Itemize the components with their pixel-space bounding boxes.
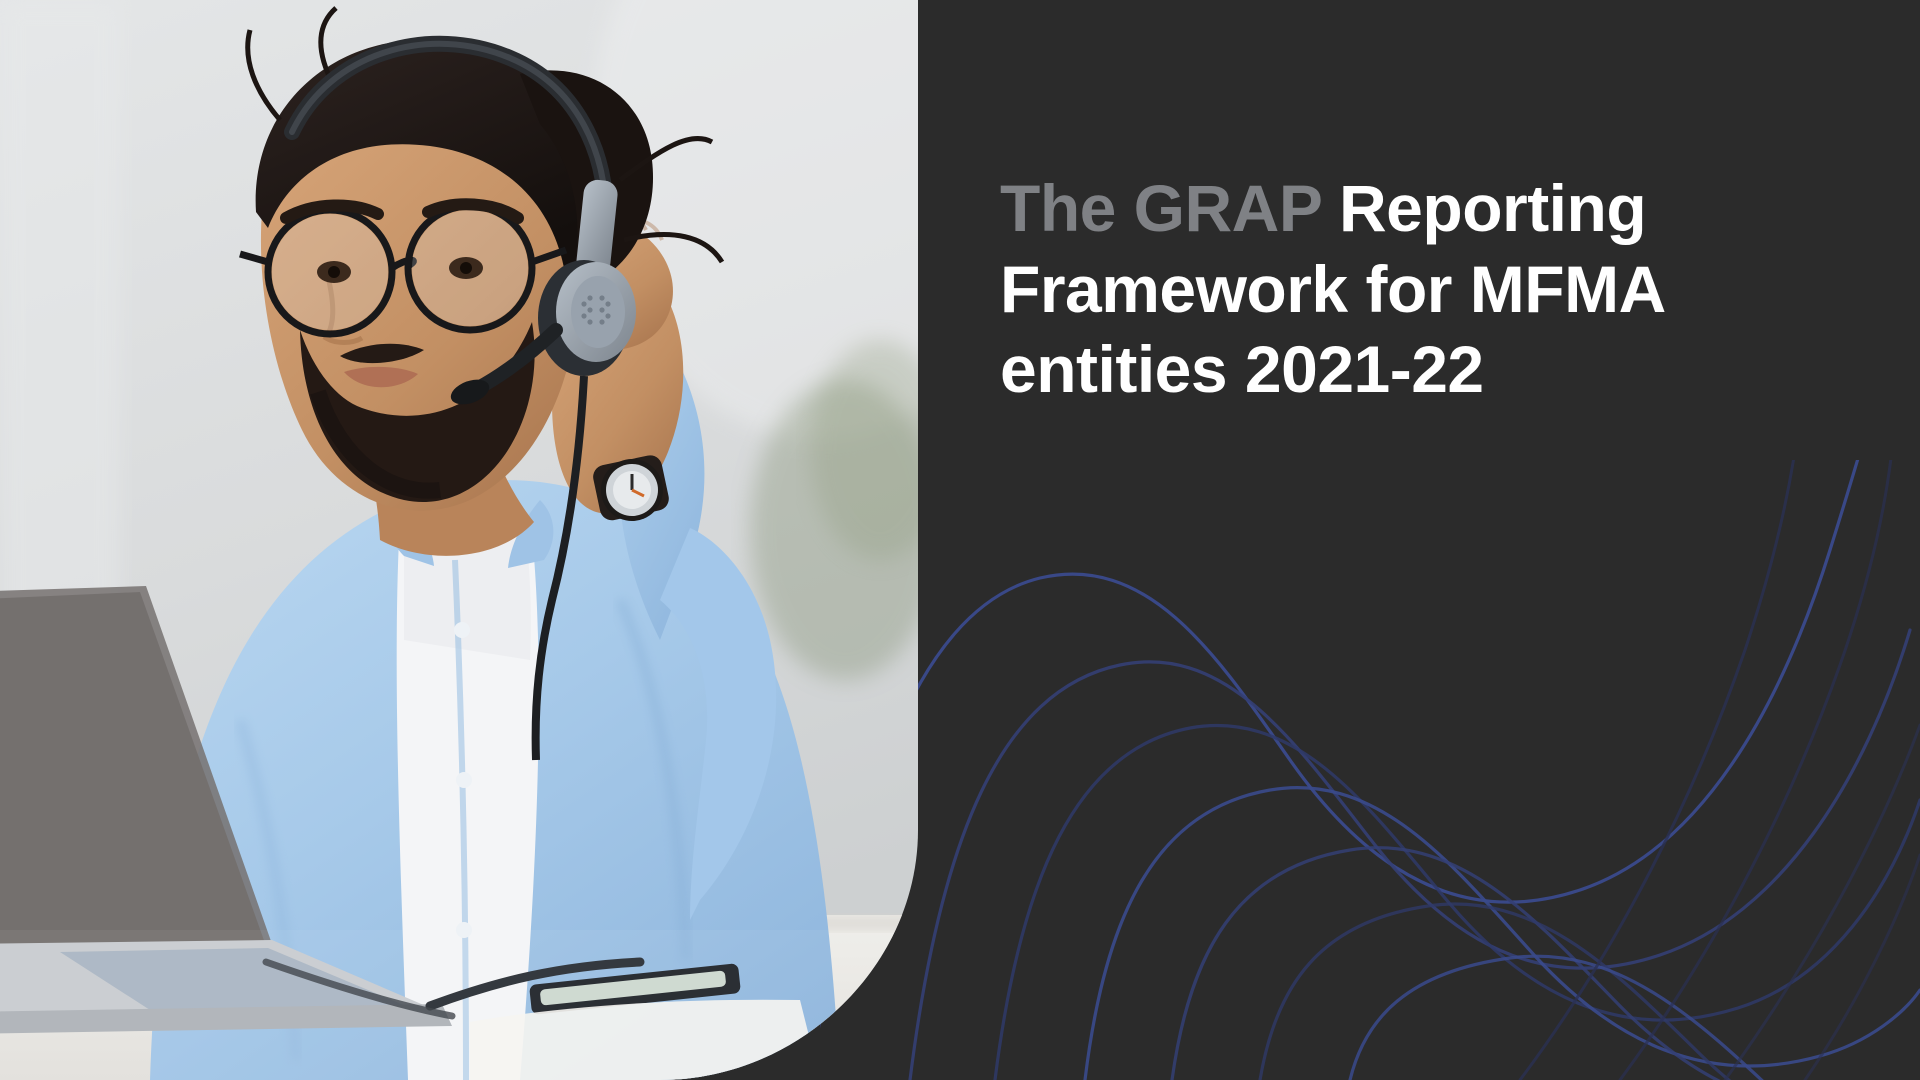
page-title: The GRAP Reporting Framework for MFMA en… [1000,168,1820,410]
marketing-banner: The GRAP Reporting Framework for MFMA en… [0,0,1920,1080]
headline-accent-text: The GRAP [1000,171,1321,245]
hero-photo [0,0,918,1080]
